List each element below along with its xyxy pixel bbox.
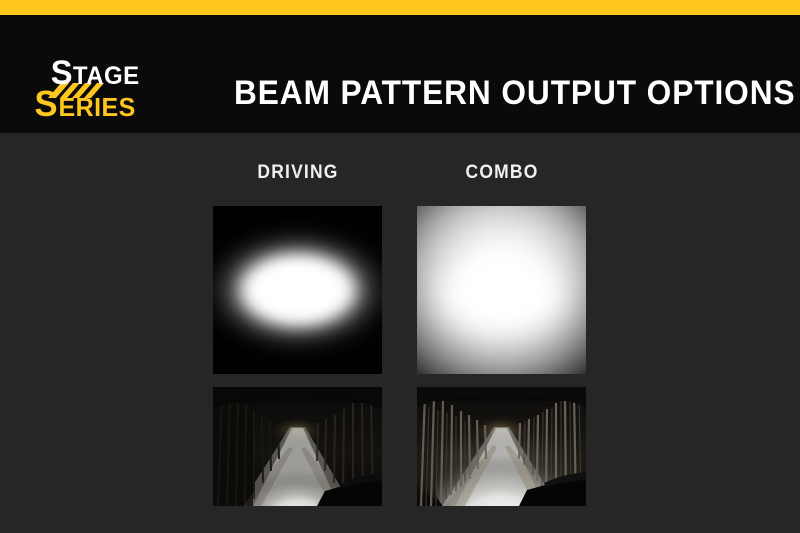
svg-text:ERIES: ERIES — [58, 94, 135, 123]
combo-road-photo — [417, 387, 586, 506]
page-title: BEAM PATTERN OUTPUT OPTIONS — [234, 73, 766, 113]
svg-text:S: S — [34, 84, 58, 124]
column-label-combo: COMBO — [424, 161, 580, 185]
svg-text:TAGE: TAGE — [73, 63, 140, 91]
driving-beam-pattern — [213, 206, 382, 374]
top-accent-bar — [0, 0, 800, 15]
column-label-driving: DRIVING — [220, 161, 376, 185]
header-bar: S TAGE S ERIES BEAM PATTERN OUTPUT OPTIO… — [0, 15, 800, 133]
content-area: DRIVING — [0, 133, 800, 533]
combo-beam-pattern — [417, 206, 586, 374]
stage-series-logo: S TAGE S ERIES — [22, 42, 182, 124]
driving-road-photo — [213, 387, 382, 506]
